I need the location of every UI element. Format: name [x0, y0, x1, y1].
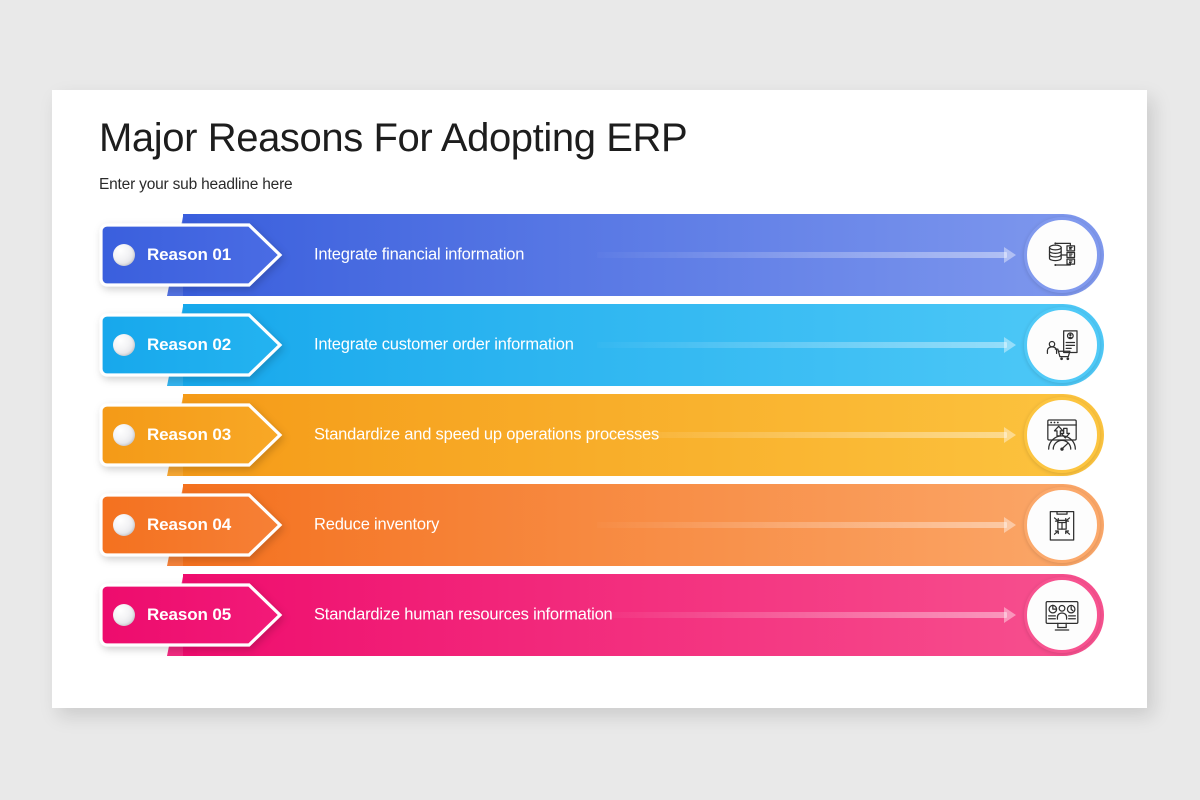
arrow-head: [1004, 607, 1016, 623]
header-block: Major Reasons For Adopting ERP Enter you…: [99, 115, 999, 194]
arrow-shaft: [597, 522, 1007, 528]
inventory-box-arrows-icon-badge[interactable]: [1024, 487, 1100, 563]
reason-label-text: Reason 04: [147, 515, 231, 535]
reason-label-chevron[interactable]: Reason 01: [99, 223, 284, 287]
arrow-head: [1004, 337, 1016, 353]
reason-label-text: Reason 03: [147, 425, 231, 445]
reason-description: Standardize human resources information: [314, 606, 613, 625]
reason-label-chevron[interactable]: Reason 04: [99, 493, 284, 557]
database-finance-icon: [1042, 235, 1082, 275]
reason-row[interactable]: Reduce inventoryReason 04: [99, 480, 1104, 570]
chevron-content: Reason 04: [99, 493, 284, 557]
page-title: Major Reasons For Adopting ERP: [99, 115, 999, 161]
progress-arrow-icon: [597, 609, 1016, 621]
chevron-content: Reason 03: [99, 403, 284, 467]
reason-label-text: Reason 05: [147, 605, 231, 625]
progress-arrow-icon: [597, 429, 1016, 441]
inventory-box-arrows-icon: [1042, 505, 1082, 545]
reason-label-chevron[interactable]: Reason 02: [99, 313, 284, 377]
reason-row[interactable]: Integrate financial informationReason 01: [99, 210, 1104, 300]
progress-arrow-icon: [597, 249, 1016, 261]
reason-row[interactable]: Standardize and speed up operations proc…: [99, 390, 1104, 480]
customer-cart-invoice-icon-badge[interactable]: [1024, 307, 1100, 383]
arrow-shaft: [597, 342, 1007, 348]
database-finance-icon-badge[interactable]: [1024, 217, 1100, 293]
reason-row[interactable]: Standardize human resources informationR…: [99, 570, 1104, 660]
reason-label-chevron[interactable]: Reason 05: [99, 583, 284, 647]
reason-description: Reduce inventory: [314, 516, 439, 535]
bullet-circle-icon: [113, 334, 135, 356]
arrow-shaft: [597, 252, 1007, 258]
chevron-content: Reason 01: [99, 223, 284, 287]
customer-cart-invoice-icon: [1042, 325, 1082, 365]
arrow-head: [1004, 247, 1016, 263]
page-subtitle: Enter your sub headline here: [99, 176, 999, 194]
reason-description: Standardize and speed up operations proc…: [314, 426, 659, 445]
hr-dashboard-monitor-icon-badge[interactable]: [1024, 577, 1100, 653]
reason-label-text: Reason 01: [147, 245, 231, 265]
arrow-head: [1004, 517, 1016, 533]
chevron-content: Reason 05: [99, 583, 284, 647]
bullet-circle-icon: [113, 604, 135, 626]
reasons-list: Integrate financial informationReason 01…: [99, 210, 1104, 660]
progress-arrow-icon: [597, 519, 1016, 531]
bullet-circle-icon: [113, 514, 135, 536]
bullet-circle-icon: [113, 424, 135, 446]
progress-arrow-icon: [597, 339, 1016, 351]
chevron-content: Reason 02: [99, 313, 284, 377]
reason-row[interactable]: Integrate customer order informationReas…: [99, 300, 1104, 390]
reason-description: Integrate financial information: [314, 246, 524, 265]
hr-dashboard-monitor-icon: [1042, 595, 1082, 635]
browser-gauge-icon-badge[interactable]: [1024, 397, 1100, 473]
slide-card: Major Reasons For Adopting ERP Enter you…: [52, 90, 1147, 708]
reason-label-chevron[interactable]: Reason 03: [99, 403, 284, 467]
bullet-circle-icon: [113, 244, 135, 266]
arrow-shaft: [597, 612, 1007, 618]
reason-description: Integrate customer order information: [314, 336, 574, 355]
reason-label-text: Reason 02: [147, 335, 231, 355]
arrow-head: [1004, 427, 1016, 443]
browser-gauge-icon: [1042, 415, 1082, 455]
